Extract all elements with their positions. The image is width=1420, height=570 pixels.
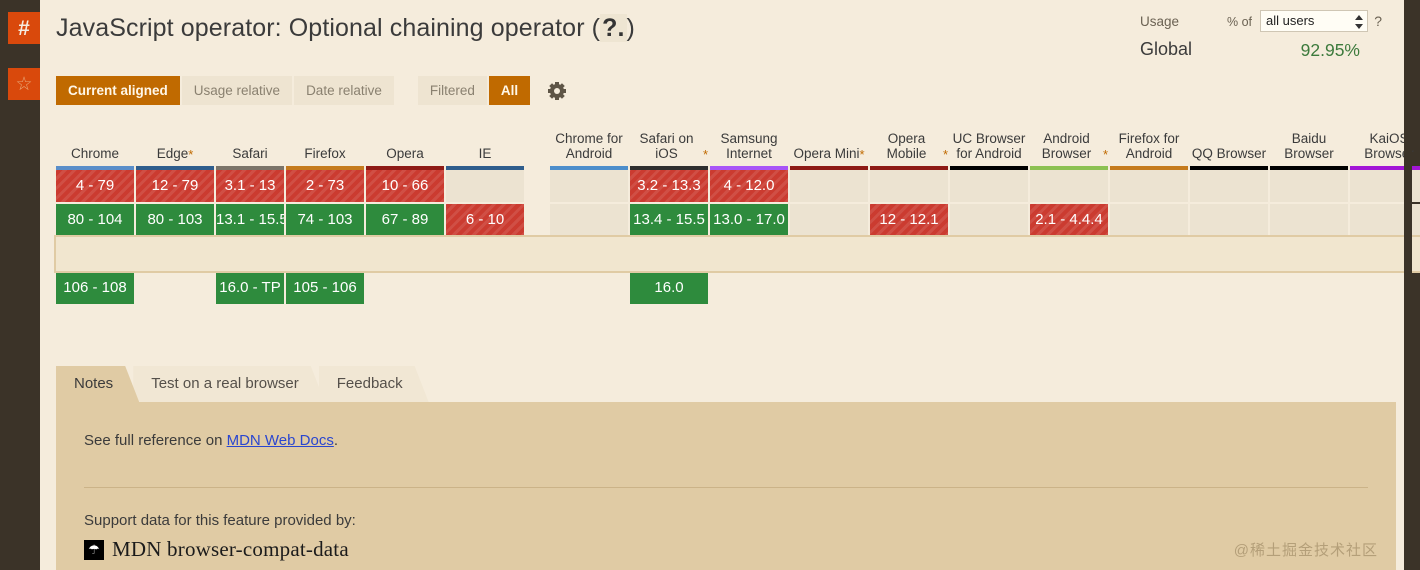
browser-column: Chrome4 - 7980 - 104105106 - 108 bbox=[56, 108, 134, 306]
browser-column: IE6 - 1011 bbox=[446, 108, 524, 306]
browser-name-baidu-browser: Baidu Browser bbox=[1270, 108, 1348, 166]
version-cell[interactable] bbox=[950, 170, 1028, 202]
browser-name-safari: Safari bbox=[216, 108, 284, 166]
browser-note-asterisk: * bbox=[943, 148, 948, 161]
browser-column: Chrome for Android104 bbox=[550, 108, 628, 306]
version-cells: 3.2 - 13.313.4 - 15.515.616.0 bbox=[630, 170, 708, 306]
browser-note-asterisk: * bbox=[859, 148, 864, 161]
filter-button-filtered[interactable]: Filtered bbox=[418, 76, 487, 105]
version-cell[interactable]: 18.0 bbox=[710, 238, 788, 270]
browser-name-opera-mobile: Opera Mobile* bbox=[870, 108, 948, 166]
right-edge bbox=[1404, 0, 1412, 570]
version-cell bbox=[1270, 272, 1348, 304]
chevron-updown-icon bbox=[1354, 15, 1363, 29]
audience-select-value: all users bbox=[1266, 13, 1314, 28]
version-cell[interactable]: 10 - 66 bbox=[366, 170, 444, 202]
view-button-date-relative[interactable]: Date relative bbox=[294, 76, 394, 105]
version-cell[interactable]: 80 - 103 bbox=[136, 204, 214, 236]
browser-name-edge: Edge* bbox=[136, 108, 214, 166]
browser-column: Android Browser*2.1 - 4.4.4104 bbox=[1030, 108, 1108, 306]
version-cell[interactable]: 15.6 bbox=[630, 238, 708, 270]
version-cell[interactable]: 11 bbox=[446, 238, 524, 270]
version-cells: 12.12 bbox=[950, 170, 1028, 306]
page-title: JavaScript operator: Optional chaining o… bbox=[56, 14, 635, 43]
data-source-name: MDN browser-compat-data bbox=[112, 537, 349, 562]
version-cell[interactable] bbox=[1190, 170, 1268, 202]
browser-column: Opera Mini*all bbox=[790, 108, 868, 306]
view-toolbar: Current alignedUsage relativeDate relati… bbox=[56, 76, 566, 105]
version-cells: 12 - 7980 - 103104 bbox=[136, 170, 214, 306]
version-cell[interactable]: 105 bbox=[56, 238, 134, 270]
reference-line-before: See full reference on bbox=[84, 432, 227, 449]
version-cell bbox=[1030, 272, 1108, 304]
data-source: ☂ MDN browser-compat-data bbox=[84, 537, 1368, 562]
filter-button-all[interactable]: All bbox=[489, 76, 530, 105]
notes-divider bbox=[84, 487, 1368, 488]
version-cells: 4 - 12.013.0 - 17.018.0 bbox=[710, 170, 788, 306]
left-rail: # ☆ bbox=[0, 0, 40, 570]
provided-by-label: Support data for this feature provided b… bbox=[84, 512, 1368, 529]
version-cell[interactable]: 105 - 106 bbox=[286, 272, 364, 304]
view-mode-group: Current alignedUsage relativeDate relati… bbox=[56, 76, 396, 105]
version-cell bbox=[790, 272, 868, 304]
version-cells: 2.1 - 4.4.4104 bbox=[1030, 170, 1108, 306]
hash-icon-button[interactable]: # bbox=[8, 12, 40, 44]
version-cell[interactable]: 3.1 - 13 bbox=[216, 170, 284, 202]
browser-column: Firefox2 - 7374 - 103104105 - 106 bbox=[286, 108, 364, 306]
tab-test-on-a-real-browser[interactable]: Test on a real browser bbox=[133, 366, 325, 402]
version-cells: 6 - 1011 bbox=[446, 170, 524, 306]
page-body: JavaScript operator: Optional chaining o… bbox=[40, 0, 1412, 570]
browser-column: QQ Browser10.4 bbox=[1190, 108, 1268, 306]
version-cells: 10 - 6667 - 8990 bbox=[366, 170, 444, 306]
version-cell[interactable] bbox=[550, 170, 628, 202]
browser-note-asterisk: * bbox=[703, 148, 708, 161]
percent-of-label: % of bbox=[1227, 15, 1252, 29]
browser-name-chrome-for-android: Chrome for Android bbox=[550, 108, 628, 166]
version-cell bbox=[1110, 272, 1188, 304]
browser-column: Baidu Browser7.12 bbox=[1270, 108, 1348, 306]
gear-icon[interactable] bbox=[548, 82, 566, 100]
version-cell bbox=[366, 272, 444, 304]
version-cell[interactable]: 12 - 12.1 bbox=[870, 204, 948, 236]
version-cells: 3.1 - 1313.1 - 15.515.616.0 - TP bbox=[216, 170, 284, 306]
version-cell[interactable]: 2 - 73 bbox=[286, 170, 364, 202]
version-cell[interactable] bbox=[950, 204, 1028, 236]
tab-notes[interactable]: Notes bbox=[56, 366, 139, 402]
version-cell bbox=[136, 272, 214, 304]
detail-tabs: NotesTest on a real browserFeedback bbox=[56, 366, 423, 402]
version-cell[interactable]: 80 - 104 bbox=[56, 204, 134, 236]
version-cell[interactable]: 13.4 - 15.5 bbox=[630, 204, 708, 236]
browser-name-ie: IE bbox=[446, 108, 524, 166]
version-cell[interactable]: 106 - 108 bbox=[56, 272, 134, 304]
mdn-web-docs-link[interactable]: MDN Web Docs bbox=[227, 432, 334, 449]
version-cell bbox=[870, 272, 948, 304]
version-cells: 4 - 7980 - 104105106 - 108 bbox=[56, 170, 134, 306]
reference-line: See full reference on MDN Web Docs. bbox=[84, 432, 1368, 449]
version-cell[interactable]: 3.2 - 13.3 bbox=[630, 170, 708, 202]
version-cells: 7.12 bbox=[1270, 170, 1348, 306]
view-button-usage-relative[interactable]: Usage relative bbox=[182, 76, 292, 105]
version-cell[interactable]: 4 - 79 bbox=[56, 170, 134, 202]
watermark: @稀土掘金技术社区 bbox=[1234, 539, 1378, 560]
version-cell[interactable]: 104 bbox=[550, 238, 628, 270]
hash-icon: # bbox=[18, 18, 30, 39]
version-cell[interactable] bbox=[1270, 204, 1348, 236]
version-cell[interactable]: 104 bbox=[1030, 238, 1108, 270]
version-cell[interactable]: 16.0 - TP bbox=[216, 272, 284, 304]
version-cell[interactable] bbox=[1110, 204, 1188, 236]
version-cell[interactable]: 13.0 - 17.0 bbox=[710, 204, 788, 236]
browser-name-chrome: Chrome bbox=[56, 108, 134, 166]
version-cell[interactable]: 90 bbox=[366, 238, 444, 270]
browser-name-safari-on-ios: Safari on iOS* bbox=[630, 108, 708, 166]
browser-note-asterisk: * bbox=[188, 148, 193, 161]
version-cell[interactable]: 104 bbox=[286, 238, 364, 270]
browser-column: Safari on iOS*3.2 - 13.313.4 - 15.515.61… bbox=[630, 108, 708, 306]
page-title-code: ?. bbox=[600, 14, 626, 42]
browser-name-opera-mini: Opera Mini* bbox=[790, 108, 868, 166]
version-cell[interactable]: 104 bbox=[136, 238, 214, 270]
usage-panel: Usage % of all users ? Global 92.95% bbox=[1092, 10, 1382, 66]
browser-column: Firefox for Android101 bbox=[1110, 108, 1188, 306]
version-cell[interactable]: 74 - 103 bbox=[286, 204, 364, 236]
browser-name-android-browser: Android Browser* bbox=[1030, 108, 1108, 166]
usage-label: Usage bbox=[1140, 14, 1179, 29]
browser-name-firefox-for-android: Firefox for Android bbox=[1110, 108, 1188, 166]
view-button-current-aligned[interactable]: Current aligned bbox=[56, 76, 180, 105]
page-title-suffix: ) bbox=[627, 14, 635, 42]
version-cell[interactable] bbox=[1190, 204, 1268, 236]
browser-columns: Chrome4 - 7980 - 104105106 - 108Edge*12 … bbox=[56, 108, 1396, 306]
version-cells: 101 bbox=[1110, 170, 1188, 306]
version-cell[interactable]: 64 bbox=[870, 238, 948, 270]
browser-column: UC Browser for Android12.12 bbox=[950, 108, 1028, 306]
browser-column: Samsung Internet4 - 12.013.0 - 17.018.0 bbox=[710, 108, 788, 306]
version-cell bbox=[710, 272, 788, 304]
usage-scope-label: Global bbox=[1140, 39, 1192, 60]
version-cell[interactable]: 7.12 bbox=[1270, 238, 1348, 270]
browser-name-firefox: Firefox bbox=[286, 108, 364, 166]
version-cell[interactable]: 10.4 bbox=[1190, 238, 1268, 270]
version-cell[interactable] bbox=[1030, 170, 1108, 202]
version-cell bbox=[1190, 272, 1268, 304]
version-cell[interactable]: 4 - 12.0 bbox=[710, 170, 788, 202]
browser-name-uc-browser-for-android: UC Browser for Android bbox=[950, 108, 1028, 166]
usage-percent-value: 92.95% bbox=[1301, 40, 1360, 61]
version-cell[interactable] bbox=[790, 204, 868, 236]
version-cells: 12 - 12.164 bbox=[870, 170, 948, 306]
version-cells: 10.4 bbox=[1190, 170, 1268, 306]
version-cell[interactable]: all bbox=[790, 238, 868, 270]
version-cell[interactable] bbox=[790, 170, 868, 202]
browser-name-opera: Opera bbox=[366, 108, 444, 166]
version-cell[interactable]: 6 - 10 bbox=[446, 204, 524, 236]
version-cell[interactable] bbox=[870, 170, 948, 202]
version-cell[interactable]: 67 - 89 bbox=[366, 204, 444, 236]
version-cell[interactable] bbox=[550, 204, 628, 236]
help-icon[interactable]: ? bbox=[1374, 13, 1382, 29]
version-cell[interactable]: 2.1 - 4.4.4 bbox=[1030, 204, 1108, 236]
filter-group: FilteredAll bbox=[418, 76, 532, 105]
page-title-prefix: JavaScript operator: Optional chaining o… bbox=[56, 14, 600, 42]
tab-feedback[interactable]: Feedback bbox=[319, 366, 429, 402]
version-cell[interactable]: 13.1 - 15.5 bbox=[216, 204, 284, 236]
caniuse-page: # ☆ JavaScript operator: Optional chaini… bbox=[0, 0, 1420, 570]
version-cell[interactable]: 15.6 bbox=[216, 238, 284, 270]
mdn-logo-icon: ☂ bbox=[84, 540, 104, 560]
version-cell[interactable] bbox=[1110, 170, 1188, 202]
browser-note-asterisk: * bbox=[1103, 148, 1108, 161]
version-cell[interactable]: 12.12 bbox=[950, 238, 1028, 270]
star-icon: ☆ bbox=[15, 75, 32, 94]
version-cell bbox=[950, 272, 1028, 304]
version-cell[interactable] bbox=[1270, 170, 1348, 202]
browser-column: Safari3.1 - 1313.1 - 15.515.616.0 - TP bbox=[216, 108, 284, 306]
version-cells: 104 bbox=[550, 170, 628, 306]
version-cell bbox=[446, 272, 524, 304]
version-cell bbox=[550, 272, 628, 304]
version-cell[interactable] bbox=[446, 170, 524, 202]
browser-column: Opera10 - 6667 - 8990 bbox=[366, 108, 444, 306]
browser-column: Opera Mobile*12 - 12.164 bbox=[870, 108, 948, 306]
version-cell[interactable]: 101 bbox=[1110, 238, 1188, 270]
reference-line-after: . bbox=[334, 432, 338, 449]
version-cells: 2 - 7374 - 103104105 - 106 bbox=[286, 170, 364, 306]
notes-panel: See full reference on MDN Web Docs. Supp… bbox=[56, 402, 1396, 570]
browser-column: Edge*12 - 7980 - 103104 bbox=[136, 108, 214, 306]
version-cells: all bbox=[790, 170, 868, 306]
version-cell[interactable]: 12 - 79 bbox=[136, 170, 214, 202]
browser-name-samsung-internet: Samsung Internet bbox=[710, 108, 788, 166]
star-icon-button[interactable]: ☆ bbox=[8, 68, 40, 100]
support-table: Chrome4 - 7980 - 104105106 - 108Edge*12 … bbox=[56, 108, 1396, 306]
audience-select[interactable]: all users bbox=[1260, 10, 1368, 32]
browser-name-qq-browser: QQ Browser bbox=[1190, 108, 1268, 166]
version-cell[interactable]: 16.0 bbox=[630, 272, 708, 304]
